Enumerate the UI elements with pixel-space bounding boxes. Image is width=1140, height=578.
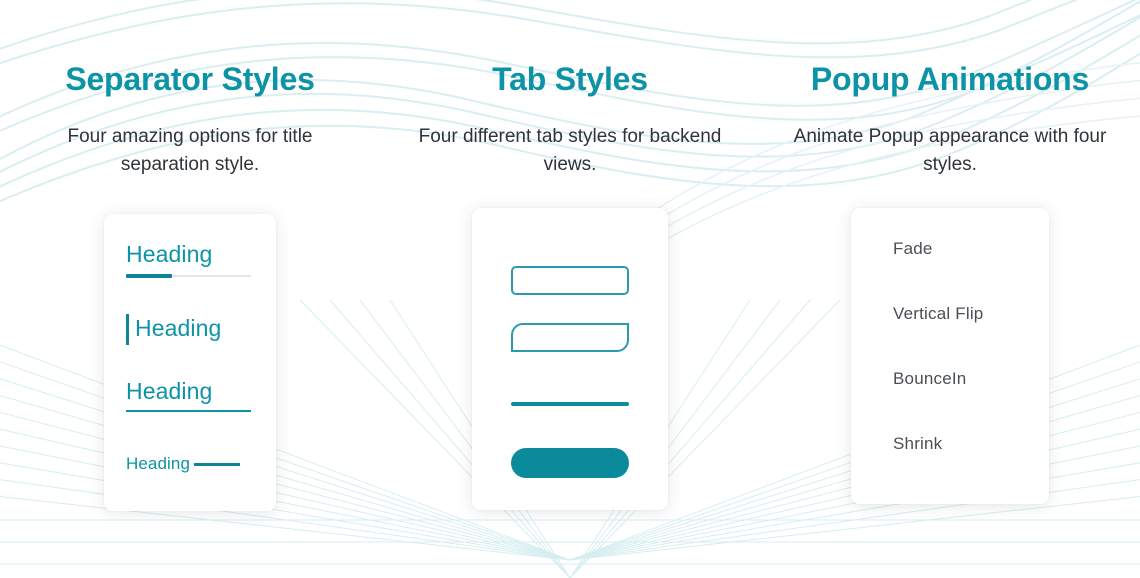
popup-animation-option-vertical-flip[interactable]: Vertical Flip bbox=[893, 305, 1049, 322]
separator-rule-left-bar bbox=[126, 314, 129, 345]
column-tab-styles: Tab Styles Four different tab styles for… bbox=[380, 0, 760, 510]
popup-animation-option-fade[interactable]: Fade bbox=[893, 240, 1049, 257]
tab-sample-underline-bar[interactable] bbox=[511, 402, 629, 406]
separator-styles-card: Heading Heading Heading Heading bbox=[104, 214, 276, 511]
popup-animation-option-shrink[interactable]: Shrink bbox=[893, 435, 1049, 452]
separator-rule-full-underline bbox=[126, 410, 251, 412]
separator-sample-underline-partial[interactable]: Heading bbox=[126, 242, 254, 276]
tab-styles-card bbox=[472, 208, 668, 510]
column-popup-animations: Popup Animations Animate Popup appearanc… bbox=[760, 0, 1140, 504]
tab-sample-filled-pill[interactable] bbox=[511, 448, 629, 478]
separator-rule-trailing-line bbox=[194, 463, 240, 466]
column-title-tab-styles: Tab Styles bbox=[492, 62, 648, 97]
tab-sample-outline-rounded[interactable] bbox=[511, 266, 629, 295]
column-description-tab-styles: Four different tab styles for backend vi… bbox=[405, 123, 735, 178]
column-separator-styles: Separator Styles Four amazing options fo… bbox=[0, 0, 380, 511]
column-title-popup-animations: Popup Animations bbox=[811, 62, 1089, 97]
column-title-separator-styles: Separator Styles bbox=[65, 62, 314, 97]
tab-sample-outline-diagonal[interactable] bbox=[511, 323, 629, 352]
popup-animation-option-bouncein[interactable]: BounceIn bbox=[893, 370, 1049, 387]
column-description-separator-styles: Four amazing options for title separatio… bbox=[25, 123, 355, 178]
separator-sample-trailing-line[interactable]: Heading bbox=[126, 455, 254, 474]
separator-rule-partial-underline bbox=[126, 275, 251, 277]
promo-banner: Separator Styles Four amazing options fo… bbox=[0, 0, 1140, 578]
separator-sample-label: Heading bbox=[135, 316, 221, 341]
column-description-popup-animations: Animate Popup appearance with four style… bbox=[785, 123, 1115, 178]
separator-sample-left-bar[interactable]: Heading bbox=[126, 314, 254, 345]
separator-sample-underline-full[interactable]: Heading bbox=[126, 379, 254, 412]
separator-sample-label: Heading bbox=[126, 242, 254, 267]
separator-sample-label: Heading bbox=[126, 379, 254, 404]
popup-animations-card: Fade Vertical Flip BounceIn Shrink bbox=[851, 208, 1049, 504]
feature-columns: Separator Styles Four amazing options fo… bbox=[0, 0, 1140, 578]
separator-sample-label: Heading bbox=[126, 455, 190, 474]
